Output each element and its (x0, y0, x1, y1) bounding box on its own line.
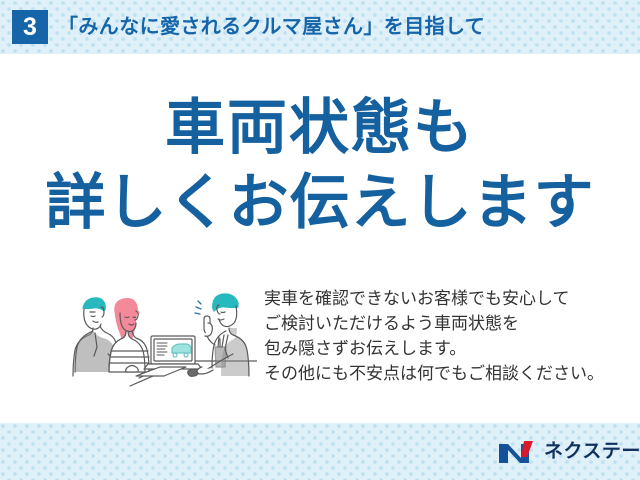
brand-logo: ネクステージ (497, 438, 640, 466)
brand-name: ネクステージ (544, 439, 640, 465)
advertisement-banner: 3 「みんなに愛されるクルマ屋さん」を目指して 車両状態も 詳しくお伝えします (0, 0, 640, 480)
headline-line-1: 車両状態も (0, 92, 640, 164)
body-copy-line-1: 実車を確認できないお客様でも安心して (264, 286, 614, 311)
step-number-badge: 3 (12, 10, 48, 44)
consultation-illustration-svg (62, 281, 257, 391)
body-copy-line-4: その他にも不安点は何でもご相談ください。 (264, 361, 614, 386)
body-copy-line-3: 包み隠さずお伝えします。 (264, 336, 614, 361)
body-copy-line-2: ご検討いただけるよう車両状態を (264, 311, 614, 336)
nextage-n-logo-icon (497, 439, 537, 465)
headline-line-2: 詳しくお伝えします (0, 164, 640, 242)
header-title: 「みんなに愛されるクルマ屋さん」を目指して (58, 12, 485, 42)
body-copy: 実車を確認できないお客様でも安心して ご検討いただけるよう車両状態を 包み隠さず… (264, 286, 614, 386)
consultation-illustration (62, 281, 257, 391)
page-title: 車両状態も 詳しくお伝えします (0, 92, 640, 242)
